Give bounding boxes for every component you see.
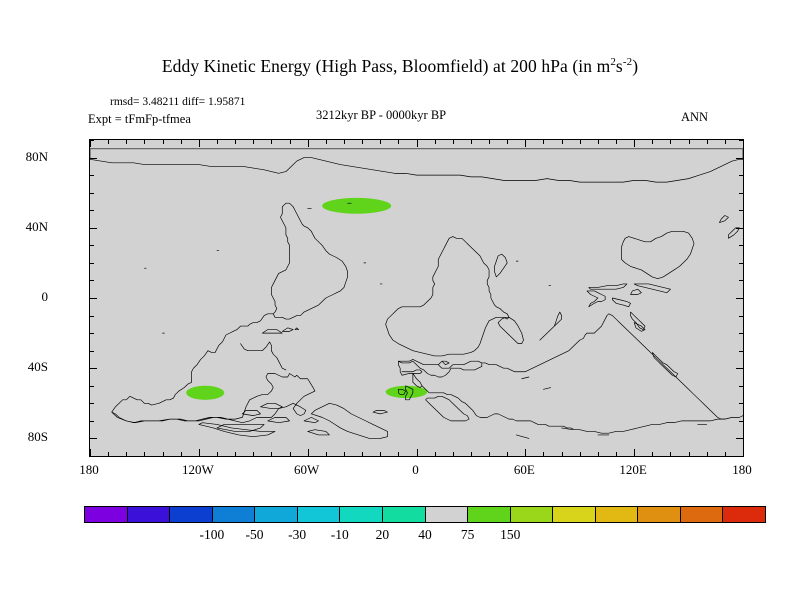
colorbar-cell-0 xyxy=(85,507,128,522)
x-axis-tick xyxy=(417,140,418,147)
y-axis-tick xyxy=(739,403,743,404)
y-axis-tick xyxy=(90,403,94,404)
colorbar-label: -10 xyxy=(331,527,349,543)
x-axis-label: 60E xyxy=(514,462,535,478)
x-axis-tick xyxy=(562,452,563,456)
colorbar-cell-1 xyxy=(128,507,171,522)
colorbar-cell-10 xyxy=(511,507,554,522)
x-axis-tick xyxy=(543,452,544,456)
x-axis-tick xyxy=(398,452,399,456)
y-axis-tick xyxy=(736,158,743,159)
x-axis-tick xyxy=(580,452,581,456)
y-axis-tick xyxy=(90,280,94,281)
x-axis-tick xyxy=(652,452,653,456)
colorbar-label: 20 xyxy=(376,527,390,543)
y-axis-tick xyxy=(739,140,743,141)
colorbar-cell-4 xyxy=(255,507,298,522)
y-axis-tick xyxy=(739,456,743,457)
x-axis-tick xyxy=(562,140,563,144)
map-plot-area xyxy=(89,139,744,457)
y-axis-tick xyxy=(736,438,743,439)
x-axis-tick xyxy=(634,449,635,456)
x-axis-tick xyxy=(217,140,218,144)
x-axis-tick xyxy=(126,452,127,456)
colorbar-cell-11 xyxy=(553,507,596,522)
y-axis-label: 40S xyxy=(28,359,48,375)
x-axis-tick xyxy=(181,140,182,144)
anomaly-shading-group xyxy=(186,198,427,400)
x-axis-tick xyxy=(616,140,617,144)
colorbar-cell-6 xyxy=(340,507,383,522)
y-axis-tick xyxy=(90,193,94,194)
x-axis-tick xyxy=(253,140,254,144)
title-exponent-2: -2 xyxy=(623,56,632,68)
y-axis-tick xyxy=(90,333,94,334)
x-axis-tick xyxy=(525,449,526,456)
x-axis-tick xyxy=(326,140,327,144)
x-axis-tick xyxy=(144,452,145,456)
colorbar-cell-15 xyxy=(723,507,765,522)
x-axis-tick xyxy=(471,452,472,456)
x-axis-tick xyxy=(344,452,345,456)
rmsd-annotation: rmsd= 3.48211 diff= 1.95871 xyxy=(110,96,245,108)
y-axis-tick xyxy=(90,228,97,229)
x-axis-label: 60W xyxy=(294,462,319,478)
x-axis-tick xyxy=(217,452,218,456)
x-axis-tick xyxy=(743,140,744,147)
x-axis-tick xyxy=(90,140,91,147)
x-axis-tick xyxy=(271,452,272,456)
y-axis-tick xyxy=(90,175,94,176)
y-axis-tick xyxy=(90,263,94,264)
x-axis-label: 120E xyxy=(619,462,646,478)
x-axis-tick xyxy=(707,140,708,144)
x-axis-tick xyxy=(362,140,363,144)
y-axis-label: 80S xyxy=(28,429,48,445)
y-axis-tick xyxy=(739,333,743,334)
x-axis-tick xyxy=(253,452,254,456)
colorbar-label: -100 xyxy=(200,527,225,543)
colorbar-label: 75 xyxy=(461,527,475,543)
x-axis-tick xyxy=(290,452,291,456)
x-axis-tick xyxy=(235,452,236,456)
x-axis-tick xyxy=(689,452,690,456)
x-axis-tick xyxy=(725,140,726,144)
y-axis-tick xyxy=(739,245,743,246)
y-axis-tick xyxy=(736,228,743,229)
x-axis-tick xyxy=(616,452,617,456)
colorbar-label: -50 xyxy=(246,527,264,543)
x-axis-tick xyxy=(108,140,109,144)
colorbar-cell-2 xyxy=(170,507,213,522)
south-pacific-anomaly xyxy=(186,386,224,400)
y-axis-tick xyxy=(739,421,743,422)
y-axis-tick xyxy=(90,421,94,422)
y-axis-tick xyxy=(90,438,97,439)
x-axis-tick xyxy=(453,452,454,456)
x-axis-label: 180 xyxy=(79,462,99,478)
y-axis-tick xyxy=(739,193,743,194)
x-axis-tick xyxy=(144,140,145,144)
colorbar-cell-7 xyxy=(383,507,426,522)
x-axis-tick xyxy=(525,140,526,147)
x-axis-tick xyxy=(707,452,708,456)
y-axis-label: 80N xyxy=(26,149,48,165)
x-axis-tick xyxy=(326,452,327,456)
x-axis-tick xyxy=(417,449,418,456)
x-axis-tick xyxy=(163,452,164,456)
y-axis-tick xyxy=(90,298,97,299)
x-axis-tick xyxy=(453,140,454,144)
y-axis-tick xyxy=(90,456,94,457)
x-axis-tick xyxy=(543,140,544,144)
y-axis-tick xyxy=(90,158,97,159)
x-axis-tick xyxy=(670,452,671,456)
y-axis-tick xyxy=(90,351,94,352)
x-axis-tick xyxy=(380,452,381,456)
y-axis-tick xyxy=(736,368,743,369)
x-axis-tick xyxy=(598,452,599,456)
x-axis-tick xyxy=(163,140,164,144)
x-axis-tick xyxy=(126,140,127,144)
x-axis-tick xyxy=(380,140,381,144)
x-axis-tick xyxy=(652,140,653,144)
y-axis-tick xyxy=(739,210,743,211)
y-axis-label: 0 xyxy=(42,289,49,305)
x-axis-label: 120W xyxy=(182,462,214,478)
title-tail: ) xyxy=(632,56,638,76)
x-axis-tick xyxy=(489,452,490,456)
colorbar-label: -30 xyxy=(288,527,306,543)
x-axis-tick xyxy=(670,140,671,144)
y-axis-tick xyxy=(739,386,743,387)
y-axis-tick xyxy=(739,280,743,281)
x-axis-tick xyxy=(308,140,309,147)
page-title: Eddy Kinetic Energy (High Pass, Bloomfie… xyxy=(0,56,800,77)
x-axis-tick xyxy=(199,449,200,456)
x-axis-tick xyxy=(199,140,200,147)
world-map-svg xyxy=(90,140,743,456)
x-axis-tick xyxy=(108,452,109,456)
x-axis-tick xyxy=(398,140,399,144)
colorbar-cell-14 xyxy=(681,507,724,522)
y-axis-tick xyxy=(739,175,743,176)
colorbar-label: 40 xyxy=(418,527,432,543)
x-axis-tick xyxy=(598,140,599,144)
y-axis-tick xyxy=(736,298,743,299)
y-axis-tick xyxy=(739,351,743,352)
x-axis-tick xyxy=(435,140,436,144)
north-atlantic-anomaly xyxy=(322,198,391,214)
period-annotation: 3212kyr BP - 0000kyr BP xyxy=(316,108,446,123)
x-axis-label: 0 xyxy=(412,462,419,478)
x-axis-tick xyxy=(308,449,309,456)
y-axis-label: 40N xyxy=(26,219,48,235)
x-axis-tick xyxy=(435,452,436,456)
y-axis-tick xyxy=(90,245,94,246)
x-axis-tick xyxy=(507,452,508,456)
colorbar-label: 150 xyxy=(500,527,520,543)
y-axis-tick xyxy=(90,210,94,211)
x-axis-tick xyxy=(743,449,744,456)
x-axis-tick xyxy=(235,140,236,144)
x-axis-tick xyxy=(271,140,272,144)
x-axis-label: 180 xyxy=(732,462,752,478)
south-atlantic-anomaly xyxy=(386,386,428,398)
x-axis-tick xyxy=(90,449,91,456)
x-axis-tick xyxy=(290,140,291,144)
x-axis-tick xyxy=(362,452,363,456)
colorbar xyxy=(84,506,766,523)
x-axis-tick xyxy=(725,452,726,456)
x-axis-tick xyxy=(489,140,490,144)
colorbar-cell-9 xyxy=(468,507,511,522)
x-axis-tick xyxy=(344,140,345,144)
x-axis-tick xyxy=(634,140,635,147)
y-axis-tick xyxy=(739,316,743,317)
colorbar-cell-12 xyxy=(596,507,639,522)
season-annotation: ANN xyxy=(681,110,708,125)
y-axis-tick xyxy=(90,386,94,387)
colorbar-cell-8 xyxy=(426,507,469,522)
x-axis-tick xyxy=(507,140,508,144)
y-axis-tick xyxy=(739,263,743,264)
colorbar-cell-13 xyxy=(638,507,681,522)
x-axis-tick xyxy=(181,452,182,456)
y-axis-tick xyxy=(90,140,94,141)
colorbar-cell-5 xyxy=(298,507,341,522)
colorbar-cell-3 xyxy=(213,507,256,522)
title-main: Eddy Kinetic Energy (High Pass, Bloomfie… xyxy=(162,56,610,76)
x-axis-tick xyxy=(689,140,690,144)
x-axis-tick xyxy=(471,140,472,144)
title-mid: s xyxy=(616,56,623,76)
y-axis-tick xyxy=(90,316,94,317)
y-axis-tick xyxy=(90,368,97,369)
x-axis-tick xyxy=(580,140,581,144)
experiment-annotation: Expt = tFmFp-tfmea xyxy=(88,112,191,127)
